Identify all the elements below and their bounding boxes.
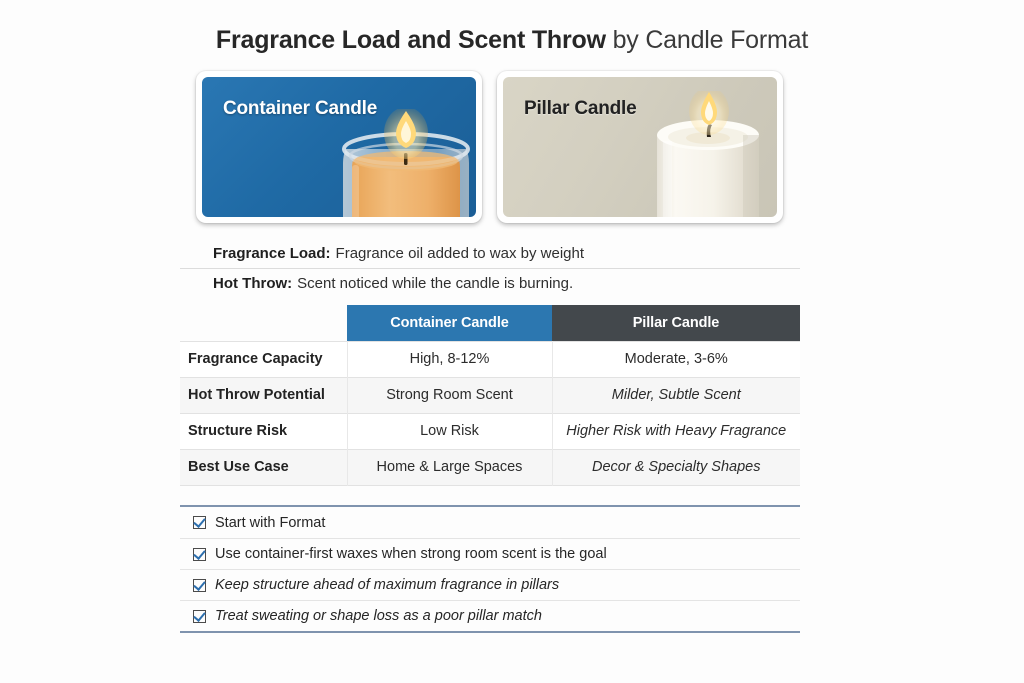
- table-header-pillar-candle: Pillar Candle: [552, 305, 800, 341]
- jar-candle-icon: [330, 109, 476, 217]
- checklist-item[interactable]: Keep structure ahead of maximum fragranc…: [180, 569, 800, 600]
- definition-fragrance-load: Fragrance Load: Fragrance oil added to w…: [180, 238, 800, 268]
- row-label: Fragrance Capacity: [180, 341, 347, 377]
- checklist-item[interactable]: Start with Format: [180, 507, 800, 538]
- checklist: Start with Format Use container-first wa…: [180, 505, 800, 633]
- checkbox-checked-icon[interactable]: [193, 579, 206, 592]
- table-header-row: Container Candle Pillar Candle: [180, 305, 800, 341]
- checklist-item[interactable]: Use container-first waxes when strong ro…: [180, 538, 800, 569]
- checklist-item[interactable]: Treat sweating or shape loss as a poor p…: [180, 600, 800, 631]
- comparison-table: Container Candle Pillar Candle Fragrance…: [180, 305, 800, 486]
- row-value-container: Home & Large Spaces: [347, 449, 552, 485]
- card-container-candle: Container Candle: [196, 71, 482, 223]
- card-pillar-candle: Pillar Candle: [497, 71, 783, 223]
- checklist-item-label: Keep structure ahead of maximum fragranc…: [215, 577, 559, 593]
- table-row: Best Use Case Home & Large Spaces Decor …: [180, 449, 800, 485]
- table-header-container-candle: Container Candle: [347, 305, 552, 341]
- row-value-container: High, 8-12%: [347, 341, 552, 377]
- checkbox-checked-icon[interactable]: [193, 610, 206, 623]
- definition-hot-throw: Hot Throw: Scent noticed while the candl…: [180, 268, 800, 298]
- pillar-candle-icon: [643, 91, 773, 217]
- definition-text: Scent noticed while the candle is burnin…: [297, 275, 573, 292]
- table-row: Fragrance Capacity High, 8-12% Moderate,…: [180, 341, 800, 377]
- definition-term: Hot Throw:: [213, 275, 292, 292]
- page-title-strong: Fragrance Load and Scent Throw: [216, 26, 606, 54]
- checkbox-checked-icon[interactable]: [193, 516, 206, 529]
- table-row: Hot Throw Potential Strong Room Scent Mi…: [180, 377, 800, 413]
- checklist-item-label: Use container-first waxes when strong ro…: [215, 546, 607, 562]
- table-row: Structure Risk Low Risk Higher Risk with…: [180, 413, 800, 449]
- row-value-pillar: Decor & Specialty Shapes: [552, 449, 800, 485]
- row-value-pillar: Higher Risk with Heavy Fragrance: [552, 413, 800, 449]
- page-title: Fragrance Load and Scent Throw by Candle…: [0, 26, 1024, 55]
- row-label: Best Use Case: [180, 449, 347, 485]
- row-label: Structure Risk: [180, 413, 347, 449]
- card-pillar-candle-label: Pillar Candle: [524, 98, 637, 120]
- checklist-item-label: Start with Format: [215, 515, 325, 531]
- page-title-light: by Candle Format: [606, 26, 808, 54]
- row-label: Hot Throw Potential: [180, 377, 347, 413]
- infographic-page: Fragrance Load and Scent Throw by Candle…: [0, 0, 1024, 683]
- card-pillar-candle-inner: Pillar Candle: [503, 77, 777, 217]
- definition-text: Fragrance oil added to wax by weight: [336, 245, 584, 262]
- card-container-candle-label: Container Candle: [223, 98, 377, 120]
- definition-term: Fragrance Load:: [213, 245, 331, 262]
- checkbox-checked-icon[interactable]: [193, 548, 206, 561]
- row-value-pillar: Milder, Subtle Scent: [552, 377, 800, 413]
- definitions-list: Fragrance Load: Fragrance oil added to w…: [180, 238, 800, 298]
- candle-format-cards: Container Candle: [196, 71, 786, 223]
- card-container-candle-inner: Container Candle: [202, 77, 476, 217]
- table-header-blank: [180, 305, 347, 341]
- row-value-container: Low Risk: [347, 413, 552, 449]
- checklist-item-label: Treat sweating or shape loss as a poor p…: [215, 608, 542, 624]
- row-value-container: Strong Room Scent: [347, 377, 552, 413]
- row-value-pillar: Moderate, 3-6%: [552, 341, 800, 377]
